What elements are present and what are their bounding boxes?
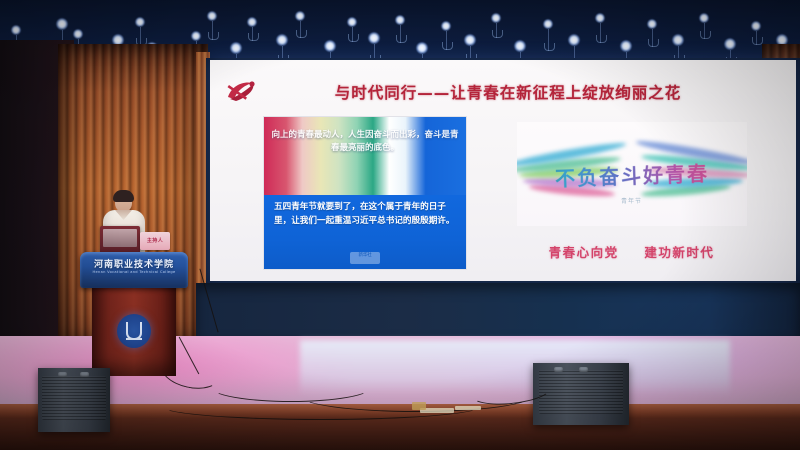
laptop-on-podium xyxy=(100,226,140,252)
floor-tape xyxy=(455,406,481,410)
calligraphy-artwork: 不负奋斗好青春 青年节 xyxy=(517,122,747,226)
watermark-logo: 新华社 xyxy=(350,252,380,264)
podium-nameplate-en: Henan Vocational and Technical College xyxy=(80,270,188,274)
ceiling-spotlight xyxy=(295,11,305,21)
ceiling-spotlight xyxy=(464,34,476,46)
ceiling-spotlight xyxy=(368,32,380,44)
laptop-screen xyxy=(103,229,137,247)
podium-nameplate: 河南职业技术学院 Henan Vocational and Technical … xyxy=(80,252,188,288)
light-rig-bracket xyxy=(756,31,757,45)
ceiling-spotlight xyxy=(568,34,580,46)
monitor-grille xyxy=(42,376,105,421)
stage-monitor-left xyxy=(38,368,110,432)
ceiling-spotlight xyxy=(514,40,526,52)
ceiling-spotlight xyxy=(724,38,736,50)
light-rig-bracket xyxy=(652,29,653,47)
ceiling-spotlight xyxy=(699,13,709,23)
ceiling-spotlight xyxy=(416,42,428,54)
ceiling-spotlight xyxy=(135,17,145,27)
ceiling-spotlight xyxy=(595,13,605,23)
party-emblem-icon xyxy=(222,77,262,107)
light-rig-bracket xyxy=(252,27,253,41)
ceiling-spotlight xyxy=(441,21,451,31)
calligraphy-subcaption: 青年节 xyxy=(517,196,747,205)
ceiling-spotlight xyxy=(647,19,657,29)
ceiling-spotlight xyxy=(11,25,21,35)
ceiling-spotlight xyxy=(395,15,405,25)
slide-body: 向上的青春最动人，人生因奋斗而出彩，奋斗是青春最亮丽的底色。 五四青年节就要到了… xyxy=(210,112,796,281)
light-rig-bracket xyxy=(212,21,213,40)
monitor-handle xyxy=(80,372,89,377)
slide-right-image-panel: 不负奋斗好青春 青年节 青春心向党 建功新时代 xyxy=(489,116,774,268)
stage-scene: 与时代同行——让青春在新征程上绽放绚丽之花 向上的青春最动人，人生因奋斗而出彩，… xyxy=(0,0,800,450)
ceiling-spotlight xyxy=(276,34,288,46)
slogan-part-2: 建功新时代 xyxy=(644,245,714,260)
ceiling-spotlight xyxy=(620,40,632,52)
university-logo-icon xyxy=(117,314,151,348)
floor-cable xyxy=(160,392,482,420)
light-rig-bracket xyxy=(300,21,301,38)
monitor-handle xyxy=(58,372,67,377)
projection-screen: 与时代同行——让青春在新征程上绽放绚丽之花 向上的青春最动人，人生因奋斗而出彩，… xyxy=(210,60,796,281)
ceiling-spotlight xyxy=(73,29,83,39)
blue-caption-block: 五四青年节就要到了，在这个属于青年的日子里，让我们一起重温习近平总书记的殷殷期许… xyxy=(264,195,466,269)
ceiling-spotlight xyxy=(672,34,684,46)
slogan-part-1: 青春心向党 xyxy=(549,245,619,260)
ceiling-spotlight xyxy=(491,13,501,23)
slide-title: 与时代同行——让青春在新征程上绽放绚丽之花 xyxy=(246,81,770,103)
light-rig-bracket xyxy=(446,31,447,50)
gradient-banner-text: 向上的青春最动人，人生因奋斗而出彩，奋斗是青春最亮丽的底色。 xyxy=(264,129,466,155)
monitor-handle xyxy=(554,367,563,372)
monitor-handle xyxy=(579,367,588,372)
desk-sign-text: 主持人 xyxy=(140,237,170,244)
light-rig-bracket xyxy=(352,27,353,42)
ceiling-spotlight xyxy=(543,19,553,29)
ceiling-spotlight xyxy=(247,17,257,27)
podium-desk-sign: 主持人 xyxy=(140,232,170,250)
light-rig-bracket xyxy=(496,23,497,38)
ceiling-spotlight xyxy=(347,17,357,27)
light-rig-bracket xyxy=(400,25,401,43)
monitor-grille xyxy=(539,370,623,413)
light-rig-bracket xyxy=(704,23,705,39)
speaker-hair xyxy=(113,190,134,202)
light-rig-bracket xyxy=(600,23,601,43)
slide-slogan: 青春心向党 建功新时代 xyxy=(549,242,715,261)
floor-connector xyxy=(412,402,426,410)
slide-title-row: 与时代同行——让青春在新征程上绽放绚丽之花 xyxy=(210,74,796,110)
ceiling-spotlight xyxy=(324,40,336,52)
blue-caption-text: 五四青年节就要到了，在这个属于青年的日子里，让我们一起重温习近平总书记的殷殷期许… xyxy=(274,201,456,229)
ceiling-spotlight xyxy=(751,21,761,31)
stage-monitor-right xyxy=(533,363,629,425)
gradient-banner: 向上的青春最动人，人生因奋斗而出彩，奋斗是青春最亮丽的底色。 xyxy=(264,117,466,195)
ceiling-spotlight xyxy=(230,42,242,54)
slide-left-image-panel: 向上的青春最动人，人生因奋斗而出彩，奋斗是青春最亮丽的底色。 五四青年节就要到了… xyxy=(263,116,467,270)
wall-below-screen xyxy=(196,283,800,337)
podium-nameplate-cn: 河南职业技术学院 xyxy=(80,257,188,270)
ceiling-spotlight xyxy=(56,18,68,30)
ceiling-spotlight xyxy=(207,11,217,21)
ceiling-spotlight xyxy=(191,31,201,41)
stage-apron xyxy=(0,418,800,450)
light-rig-bracket xyxy=(548,29,549,51)
